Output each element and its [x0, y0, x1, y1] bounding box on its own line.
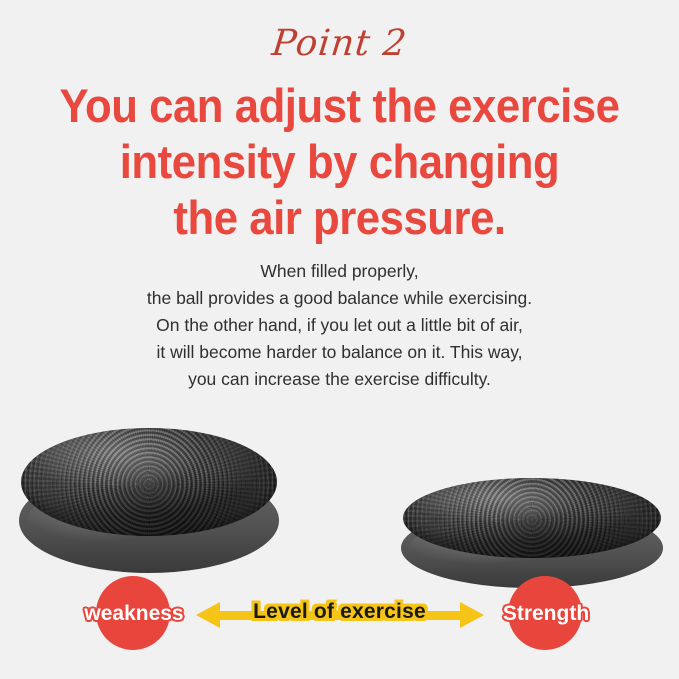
eyebrow-point-label: Point 2: [0, 26, 679, 62]
page-title: You can adjust the exercise intensity by…: [24, 78, 655, 246]
headline-line-2: intensity by changing: [24, 134, 655, 190]
infographic-page: Point 2 You can adjust the exercise inte…: [0, 0, 679, 679]
body-line-1: When filled properly,: [0, 258, 679, 285]
body-paragraph: When filled properly, the ball provides …: [0, 258, 679, 393]
difficulty-scale: weakness Level of exercise Strength: [0, 576, 679, 656]
strength-label: Strength: [490, 600, 602, 628]
headline-line-3: the air pressure.: [24, 190, 655, 246]
product-image-deflated-disc: [398, 478, 666, 588]
disc-right-shading: [403, 478, 660, 558]
disc-right-nub-surface: [403, 478, 660, 558]
body-line-2: the ball provides a good balance while e…: [0, 285, 679, 312]
disc-right-wrap: [398, 478, 666, 588]
body-line-5: you can increase the exercise difficulty…: [0, 366, 679, 393]
body-line-4: it will become harder to balance on it. …: [0, 339, 679, 366]
body-line-3: On the other hand, if you let out a litt…: [0, 312, 679, 339]
headline-line-1: You can adjust the exercise: [24, 78, 655, 134]
product-image-inflated-disc: [16, 428, 282, 573]
disc-left-wrap: [16, 428, 282, 573]
disc-left-shading: [21, 428, 276, 536]
disc-left-nub-surface: [21, 428, 276, 536]
